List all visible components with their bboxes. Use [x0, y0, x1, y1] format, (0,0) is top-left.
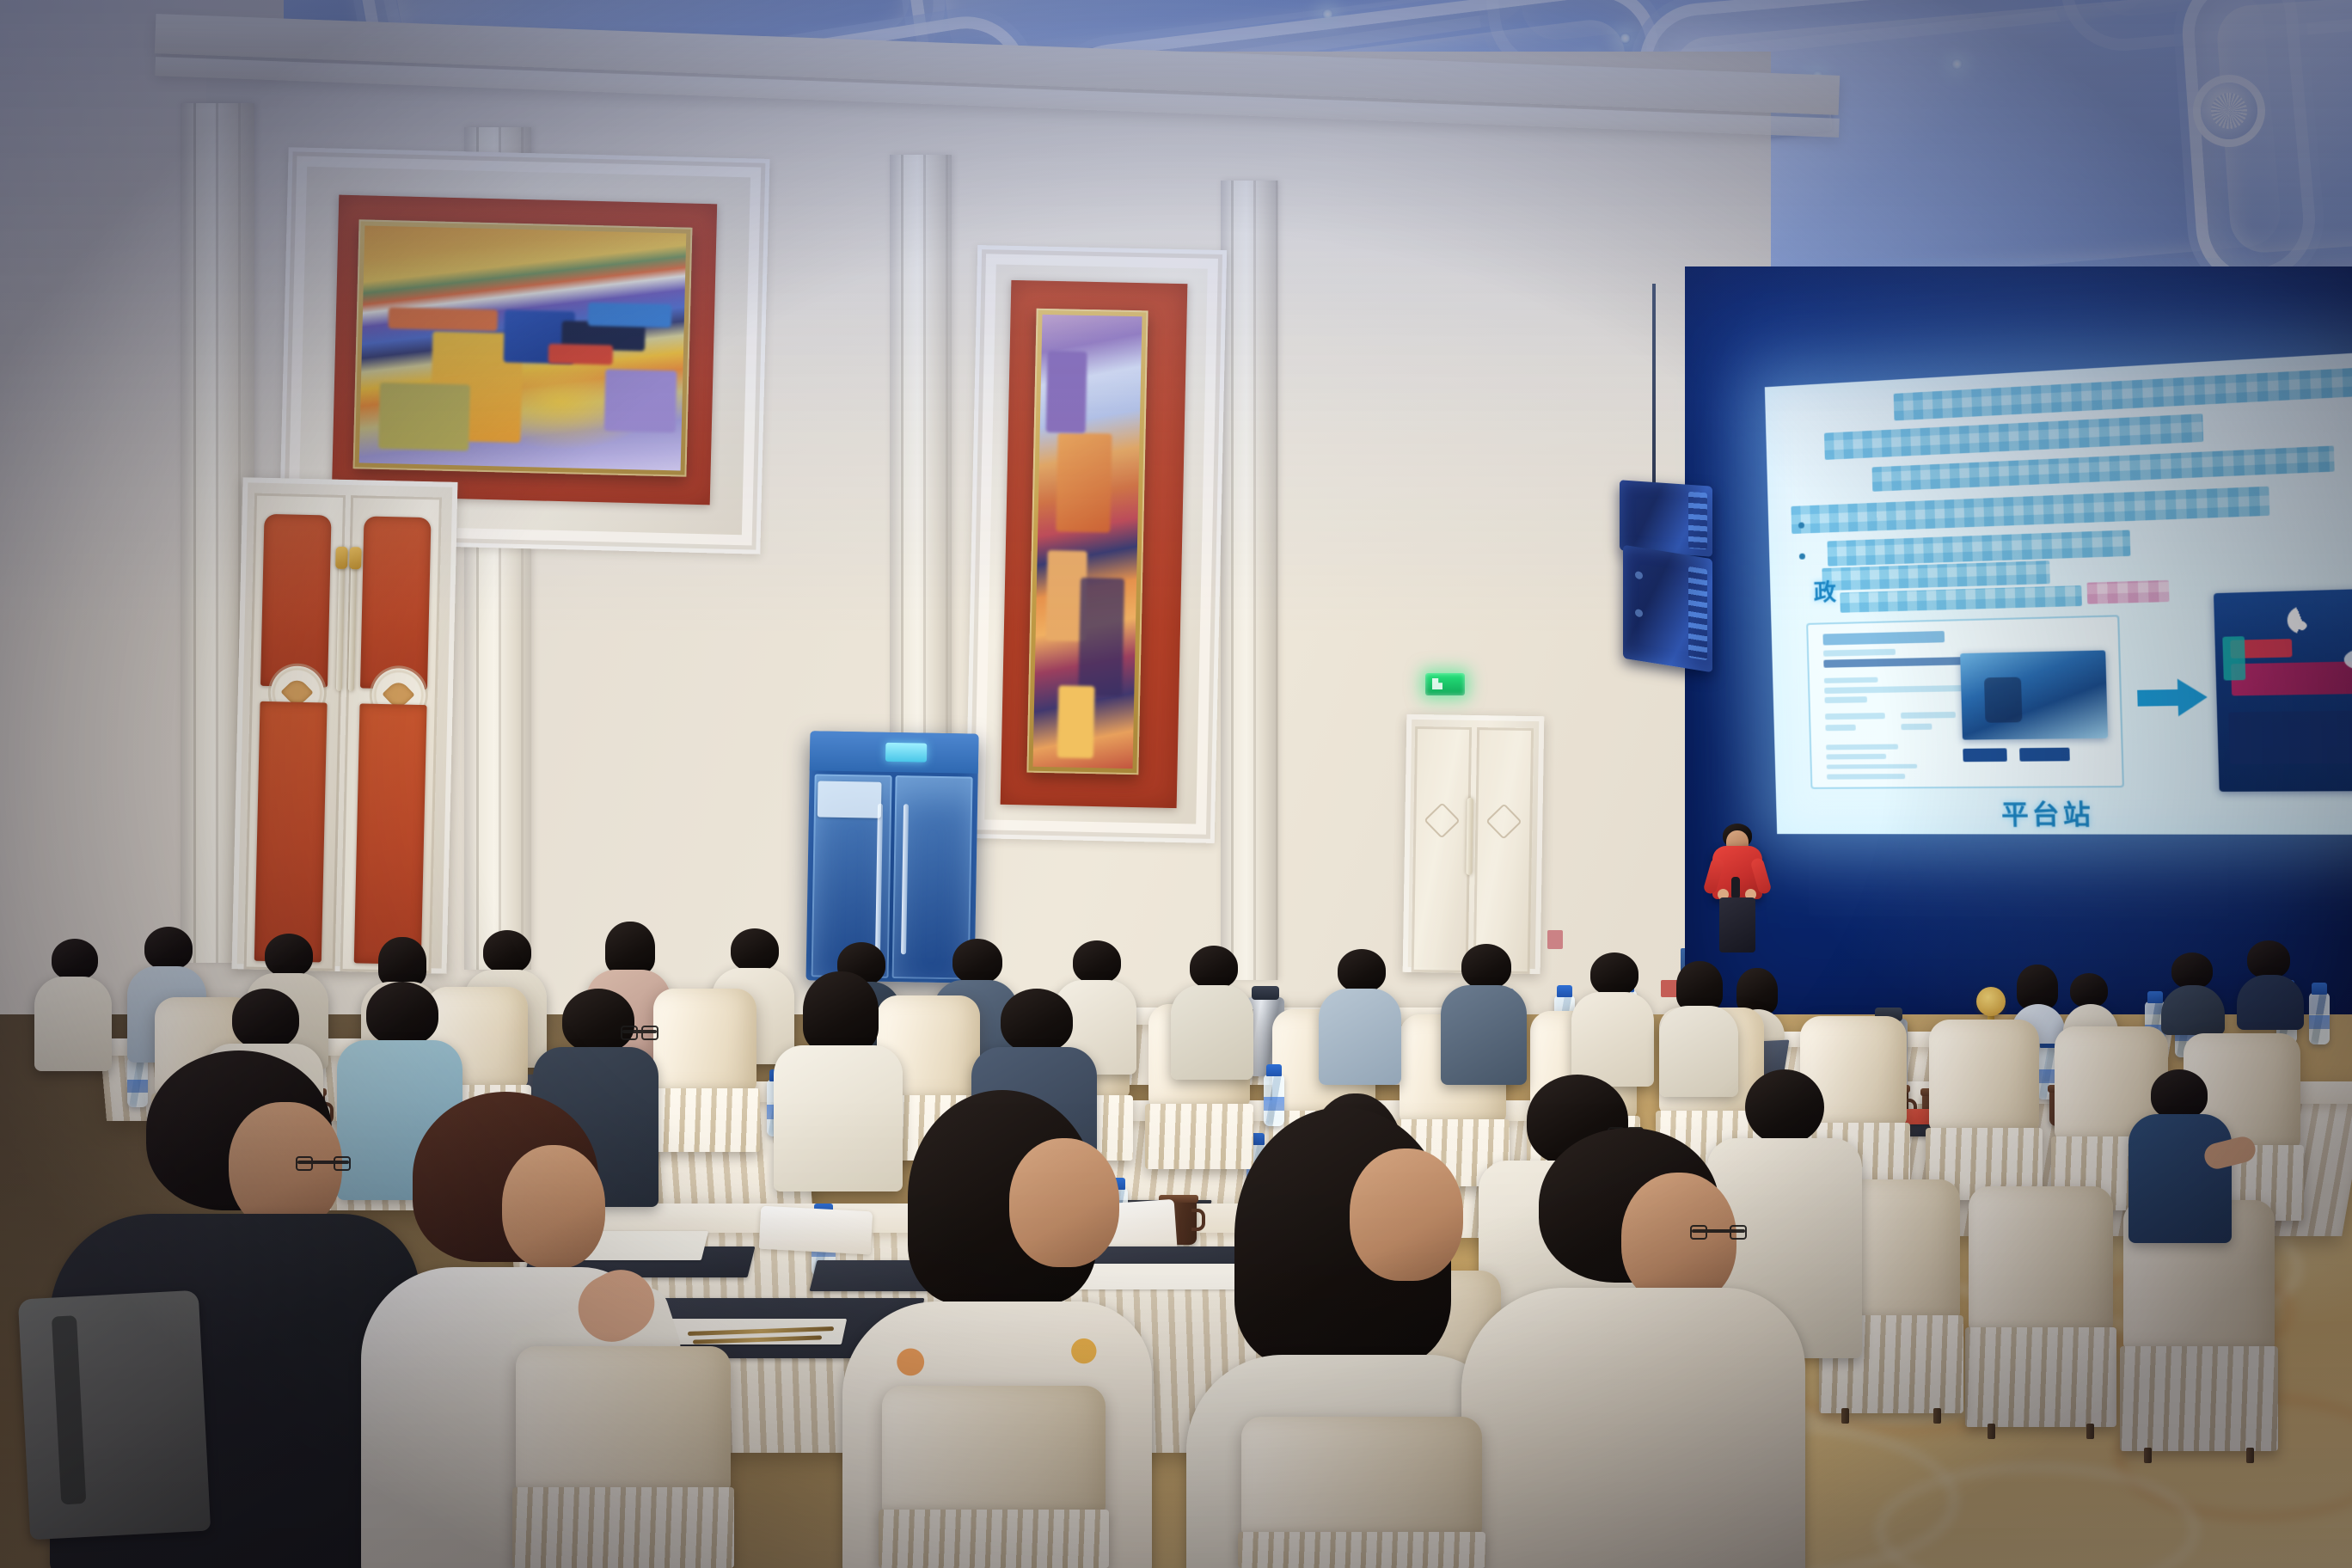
door-panel [360, 516, 432, 689]
banquet-chair [653, 989, 756, 1152]
rear-door-handle[interactable] [1466, 798, 1473, 875]
wifi-icon [2287, 606, 2317, 634]
door-handle-cap-icon [335, 547, 348, 569]
fridge-handle[interactable] [901, 804, 909, 954]
speaker-module-top [1620, 480, 1712, 557]
exit-sign-icon [1425, 673, 1465, 695]
attendee [2128, 1069, 2232, 1241]
door-surround [232, 477, 458, 974]
door-panel [260, 514, 332, 688]
slide-meeting-photo [1960, 651, 2108, 740]
attendee [1571, 952, 1654, 1081]
banquet-chair [1241, 1417, 1482, 1568]
banquet-chair [516, 1346, 731, 1568]
speaker-grill [1688, 567, 1707, 660]
attendee [2240, 940, 2297, 1020]
slide-bullet-icon [1798, 522, 1804, 528]
slide-card-button [1963, 748, 2007, 762]
rear-door[interactable] [1403, 714, 1545, 974]
slide-bullet-icon [1799, 554, 1805, 560]
speaker-module-bottom [1623, 545, 1712, 672]
rear-door-leaf-right[interactable] [1473, 727, 1534, 974]
banquet-chair [882, 1386, 1106, 1568]
main-wall [206, 52, 1771, 1092]
door-panel [254, 701, 328, 963]
table-number-disc [1976, 987, 2006, 1016]
painting-canvas-1 [359, 225, 687, 470]
fridge-handle[interactable] [875, 804, 883, 954]
attendee [2166, 952, 2218, 1025]
slide-caption: 平台站 [2000, 793, 2094, 832]
slide-card-button [2019, 747, 2070, 761]
speaker-suspension-cable [1652, 284, 1656, 499]
microphone-icon [1731, 877, 1740, 899]
conference-hall-photo: 政 [0, 0, 2352, 1568]
app-content-area [2228, 710, 2352, 764]
slide-app-preview [2214, 588, 2352, 792]
water-bottle [2309, 993, 2330, 1044]
artwork-abstract-vertical [1026, 309, 1148, 775]
presenter [1707, 824, 1767, 952]
projection-screen: 政 [1765, 352, 2352, 835]
door-handle-cap-icon [349, 547, 362, 569]
fridge-label-sticker [818, 781, 882, 818]
banquet-chair [1929, 1020, 2039, 1200]
door-leaf-left[interactable] [244, 493, 346, 971]
hanging-line-array-speaker [1613, 284, 1767, 739]
banquet-chair [1969, 1186, 2113, 1427]
attendee [1441, 944, 1527, 1080]
attendee [34, 939, 112, 1068]
flow-arrow-icon [2137, 674, 2208, 722]
wall-plate [1547, 930, 1563, 949]
fridge-temperature-display [885, 743, 927, 763]
painting-canvas-2 [1033, 315, 1142, 769]
backpack [18, 1290, 211, 1540]
presenter-skirt [1719, 897, 1755, 952]
slide-left-label: 政 [1813, 574, 1840, 607]
attendee [1319, 949, 1401, 1081]
slide-listing-card [1806, 615, 2124, 789]
attendee [1171, 946, 1253, 1075]
app-banner [2231, 661, 2352, 695]
door-panel [354, 703, 427, 965]
speaker-grill [1688, 492, 1707, 549]
rear-door-leaf-left[interactable] [1412, 726, 1472, 973]
artwork-abstract-landscape [353, 219, 693, 476]
attendee-foreground-cream-shirt [1461, 1128, 1805, 1568]
app-banner [2222, 636, 2245, 680]
